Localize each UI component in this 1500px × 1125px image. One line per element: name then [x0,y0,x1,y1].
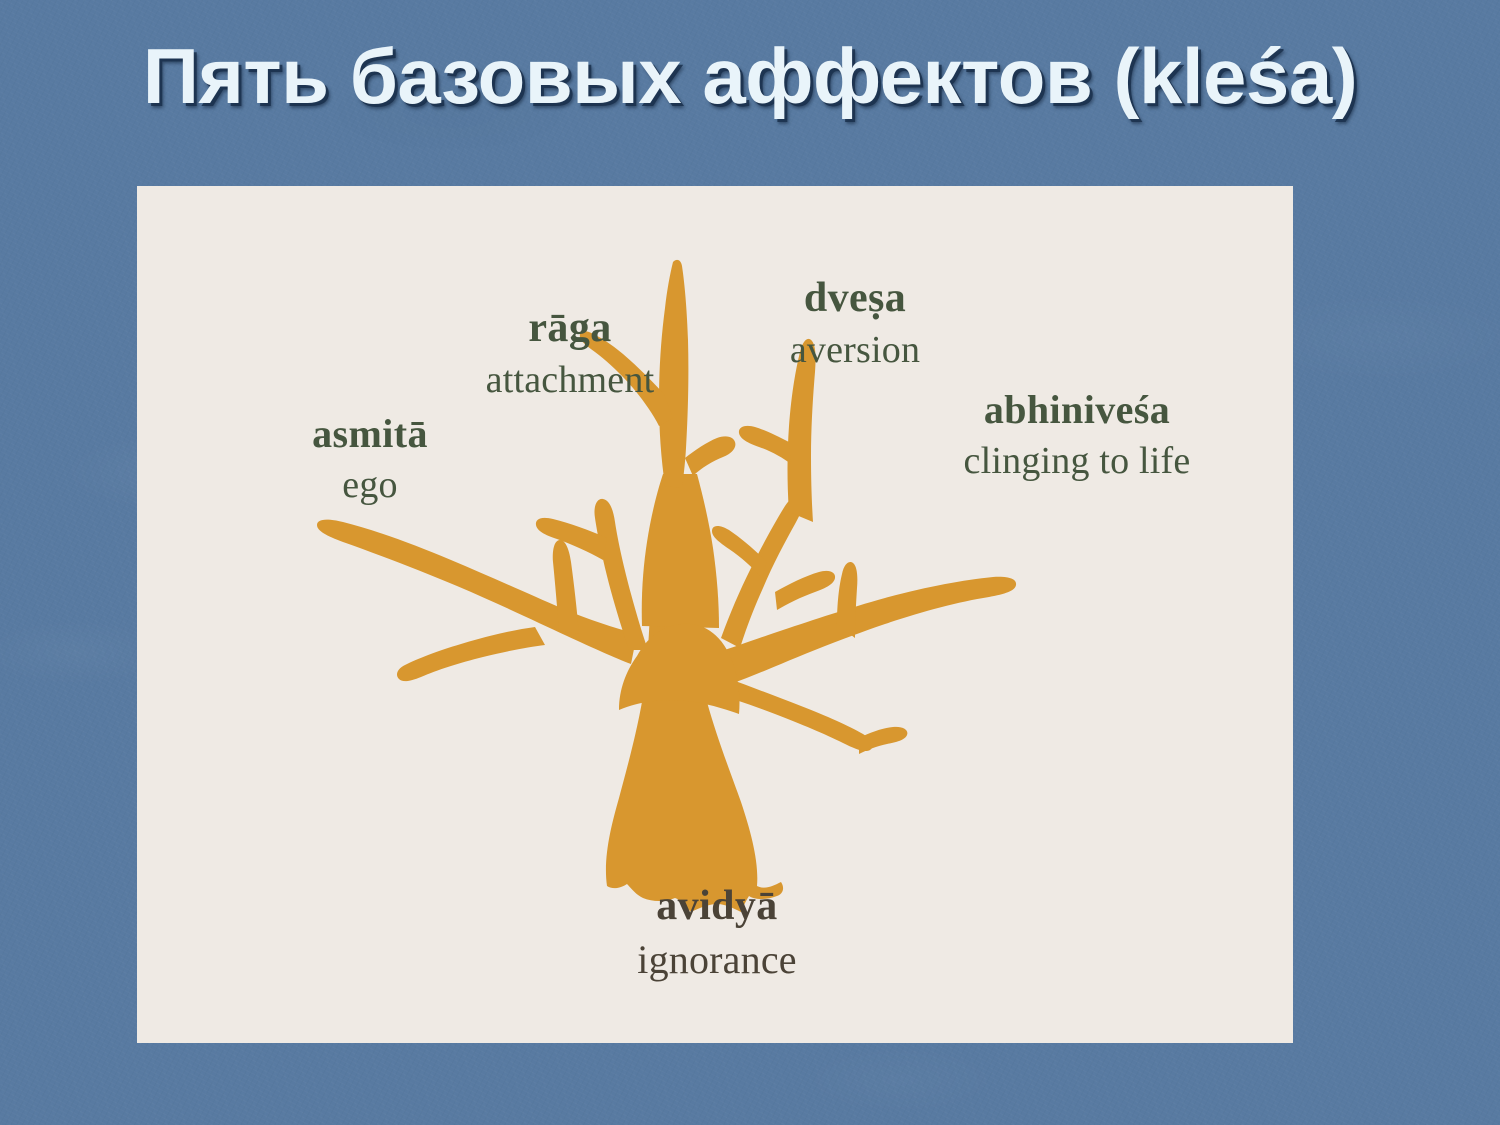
label-asmita-term: asmitā [265,410,475,457]
label-raga-gloss: attachment [425,358,715,402]
label-abhinivesa: abhiniveśa clinging to life [927,386,1227,483]
label-avidya-term: avidyā [577,882,857,930]
label-avidya-gloss: ignorance [577,936,857,983]
label-dvesa-term: dveṣa [735,274,975,322]
label-asmita: asmitā ego [265,410,475,507]
label-raga: rāga attachment [425,304,715,402]
slide: Пять базовых аффектов (kleśa) [0,0,1500,1125]
label-abhinivesa-term: abhiniveśa [927,386,1227,433]
label-dvesa-gloss: aversion [735,328,975,372]
label-abhinivesa-gloss: clinging to life [927,439,1227,483]
diagram-panel: asmitā ego rāga attachment dveṣa aversio… [137,186,1293,1043]
label-asmita-gloss: ego [265,463,475,507]
page-title: Пять базовых аффектов (kleśa) [0,36,1500,118]
label-avidya: avidyā ignorance [577,882,857,983]
label-raga-term: rāga [425,304,715,352]
label-dvesa: dveṣa aversion [735,274,975,372]
